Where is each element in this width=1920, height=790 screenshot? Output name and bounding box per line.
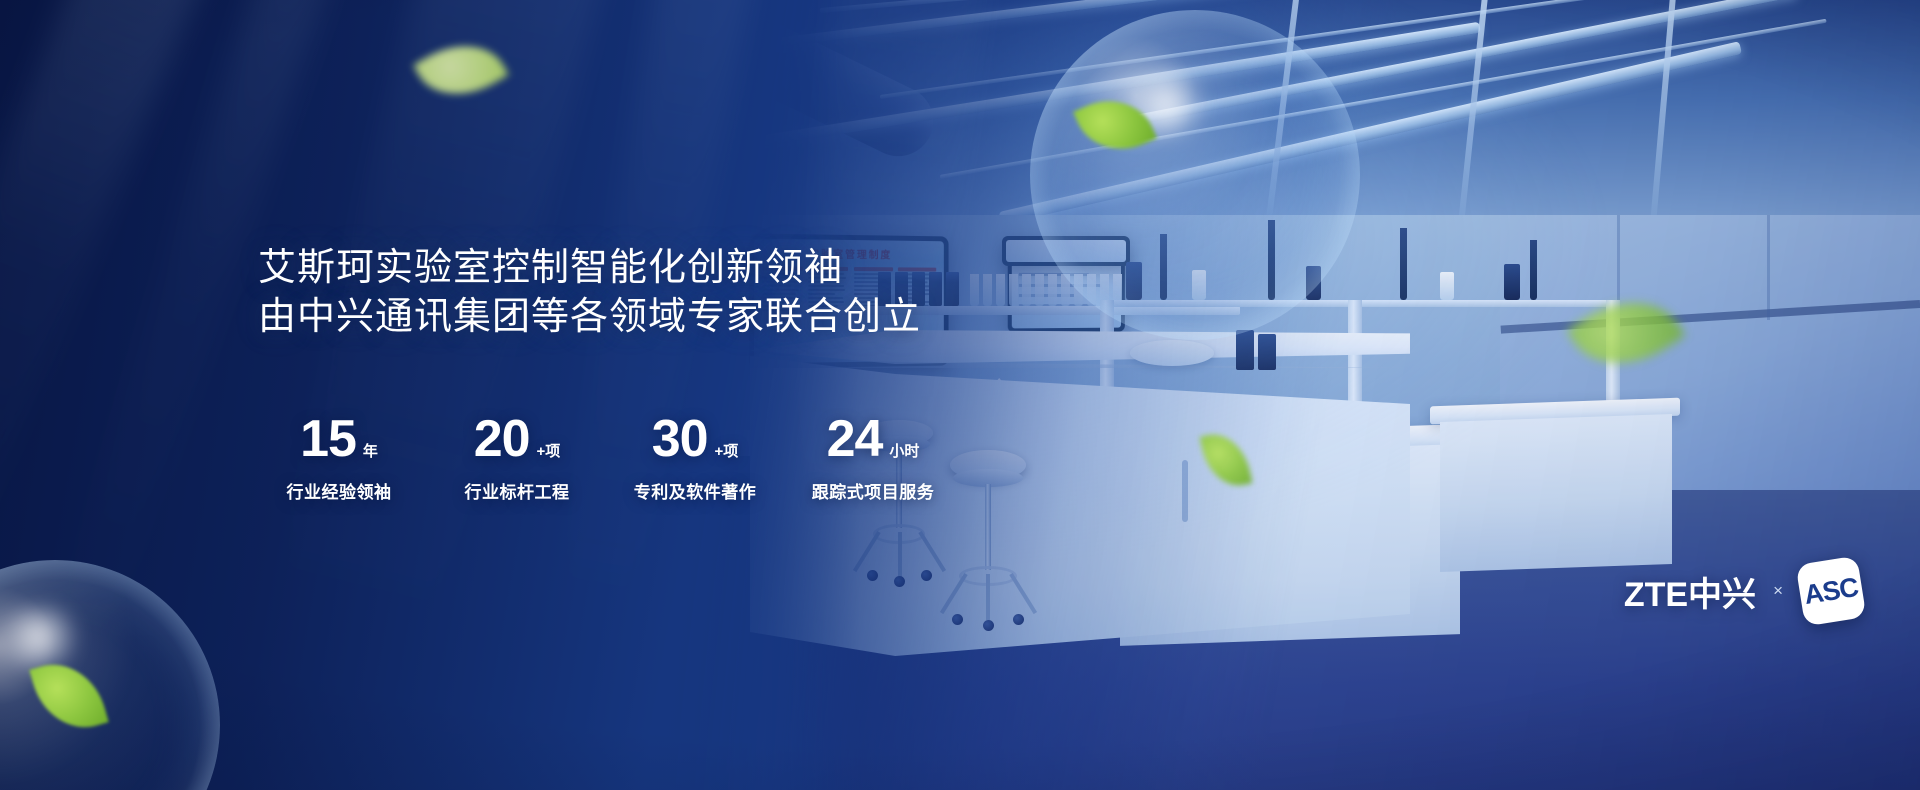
stat-unit: 小时 [889,440,919,461]
stat-label: 行业标杆工程 [428,478,606,503]
vignette-overlay [0,0,1920,790]
stats-row: 15 年 行业经验领袖 20 +项 行业标杆工程 30 +项 专利及软件著作 2… [250,413,962,503]
stat-number: 15 [300,413,356,465]
stat-unit: +项 [715,440,739,461]
stat-number: 30 [652,413,708,465]
headline-line-2: 由中兴通讯集团等各领域专家联合创立 [258,293,921,342]
stat-value-group: 30 +项 [606,413,784,465]
stat-value-group: 20 +项 [428,413,606,465]
headline-block: 艾斯珂实验室控制智能化创新领袖 由中兴通讯集团等各领域专家联合创立 [258,244,921,343]
stat-label: 跟踪式项目服务 [784,478,962,503]
stat-number: 20 [474,413,530,465]
stat-number: 24 [827,413,883,465]
asc-logo-text: ASC [1802,571,1860,610]
stat-item-service: 24 小时 跟踪式项目服务 [784,413,962,503]
headline-line-1: 艾斯珂实验室控制智能化创新领袖 [258,244,921,293]
stat-label: 行业经验领袖 [250,478,428,503]
stat-unit: 年 [363,440,378,461]
stat-label: 专利及软件著作 [606,478,784,503]
banner-stage: 实验室管理制度 [0,0,1920,790]
stat-item-benchmark-projects: 20 +项 行业标杆工程 [428,413,606,503]
stat-item-experience: 15 年 行业经验领袖 [250,413,428,503]
stat-unit: +项 [537,440,561,461]
stat-item-patents: 30 +项 专利及软件著作 [606,413,784,503]
logo-lockup[interactable]: ZTE中兴 × ASC [1624,560,1862,622]
page-title: 艾斯珂实验室控制智能化创新领袖 由中兴通讯集团等各领域专家联合创立 [258,244,921,343]
zte-logo-text: ZTE中兴 [1624,567,1756,616]
stat-value-group: 24 小时 [784,413,962,465]
logo-connector: × [1773,581,1783,601]
stat-value-group: 15 年 [250,413,428,465]
asc-logo-badge: ASC [1796,556,1867,627]
